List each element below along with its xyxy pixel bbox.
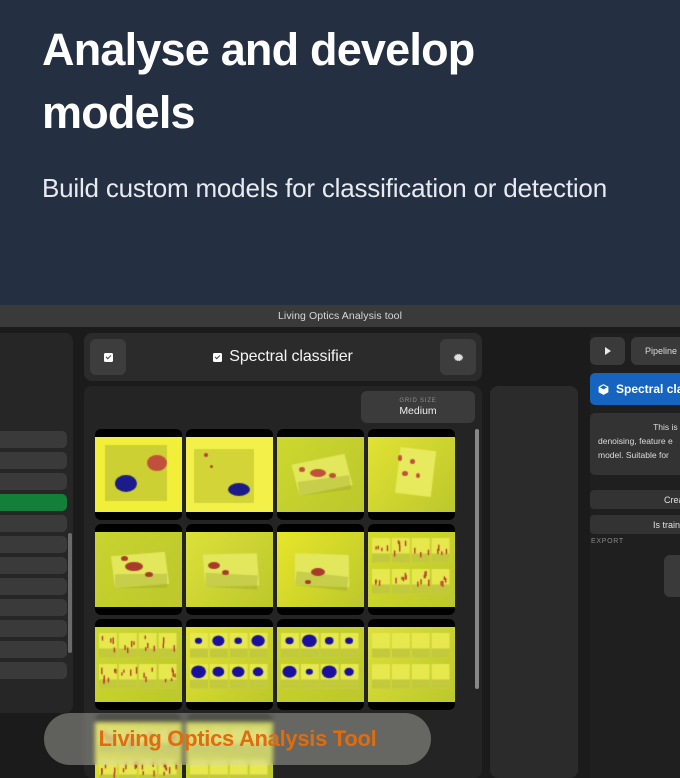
thumbnail-item[interactable] (186, 619, 273, 710)
overlay-pill: Living Optics Analysis Tool (44, 713, 431, 765)
thumbnail-item[interactable] (95, 524, 182, 615)
grid-size-value: Medium (399, 405, 436, 417)
field-created-at-label: Created at (664, 495, 680, 505)
list-item[interactable] (0, 431, 67, 448)
right-panel-tabs: Pipeline (590, 337, 680, 365)
center-header-title-group: Spectral classifier (84, 333, 482, 381)
thumbnail-item[interactable] (186, 524, 273, 615)
tab-pipeline-label: Pipeline (645, 346, 677, 356)
thumbnail-image (95, 532, 182, 607)
list-item[interactable]: . (0, 473, 67, 490)
thumbnail-item[interactable] (277, 619, 364, 710)
sidebar-scrollbar[interactable] (68, 533, 72, 653)
list-item[interactable] (0, 557, 67, 574)
center-column: Spectral classifier GRID SIZE Medium (84, 333, 482, 778)
list-item[interactable] (0, 515, 67, 532)
thumbnail-canvas (95, 627, 182, 702)
window-titlebar: Living Optics Analysis tool (0, 305, 680, 327)
checkbox-icon (213, 353, 222, 362)
thumbnail-image (277, 532, 364, 607)
app-window: Living Optics Analysis tool ts By object… (0, 305, 680, 778)
model-description-line-0: This is a classific (598, 420, 680, 434)
list-item[interactable]: e rate (0, 599, 67, 616)
list-item[interactable] (0, 578, 67, 595)
thumbnail-canvas (368, 627, 455, 702)
list-item[interactable]: e rate (0, 641, 67, 658)
list-item[interactable]: e (0, 536, 67, 553)
thumbnail-canvas (186, 627, 273, 702)
hero-banner: Analyse and develop models Build custom … (0, 0, 680, 305)
thumbnail-image (368, 627, 455, 702)
field-created-at[interactable]: Created at (590, 490, 680, 509)
page-title: Analyse and develop models (42, 18, 602, 144)
thumbnail-item[interactable] (95, 429, 182, 520)
page-subtitle: Build custom models for classification o… (42, 163, 642, 214)
training-prediction-panel: Training prediction background104103106 (490, 386, 578, 778)
thumbnail-image (186, 437, 273, 512)
thumbnail-canvas (368, 437, 455, 512)
model-description: This is a classific denoising, feature e… (590, 413, 680, 475)
thumbnail-image (368, 532, 455, 607)
app-body: ts By object e . e e ra (0, 327, 680, 778)
settings-button[interactable] (440, 339, 476, 375)
cube-icon (597, 383, 610, 396)
list-item[interactable]: e (0, 452, 67, 469)
overlay-pill-label: Living Optics Analysis Tool (99, 726, 377, 752)
thumbnail-image (277, 627, 364, 702)
field-is-trained-model[interactable]: Is trained model (590, 515, 680, 534)
list-item[interactable]: rate (0, 662, 67, 679)
thumbnail-item[interactable] (95, 619, 182, 710)
field-is-trained-model-label: Is trained model (653, 520, 680, 530)
thumbnail-canvas (95, 532, 182, 607)
thumbnail-item[interactable] (368, 524, 455, 615)
grid-scrollbar[interactable] (475, 429, 479, 689)
sidebar-row-list: e . e e rate rate e rate rate (0, 431, 67, 683)
thumbnail-canvas (277, 627, 364, 702)
export-section-label: EXPORT (591, 538, 624, 545)
play-icon (605, 347, 611, 355)
model-description-line-1: denoising, feature e (598, 434, 680, 448)
left-sidebar: ts By object e . e e ra (0, 333, 73, 713)
thumbnail-image (186, 627, 273, 702)
thumbnail-canvas (186, 532, 273, 607)
right-panel: Pipeline Spectral cla This is a classifi… (590, 333, 680, 778)
pipeline-selected-item[interactable]: Spectral cla (590, 373, 680, 405)
play-button[interactable] (590, 337, 625, 365)
thumbnail-item[interactable] (368, 429, 455, 520)
center-header-title: Spectral classifier (229, 348, 352, 366)
list-item-highlighted[interactable] (0, 494, 67, 511)
thumbnail-item[interactable] (368, 619, 455, 710)
pipeline-selected-label: Spectral cla (616, 382, 680, 396)
thumbnail-canvas (368, 532, 455, 607)
grid-size-control[interactable]: GRID SIZE Medium (361, 391, 475, 423)
thumbnail-image (95, 627, 182, 702)
tab-pipeline[interactable]: Pipeline (631, 337, 680, 365)
window-title: Living Optics Analysis tool (278, 310, 402, 322)
thumbnail-item[interactable] (186, 429, 273, 520)
thumbnail-canvas (277, 532, 364, 607)
thumbnail-image (368, 437, 455, 512)
thumbnail-item[interactable] (277, 524, 364, 615)
export-button[interactable]: F (664, 555, 680, 597)
grid-size-label: GRID SIZE (399, 398, 436, 404)
list-item[interactable]: rate (0, 620, 67, 637)
thumbnail-image (277, 437, 364, 512)
thumbnail-canvas (95, 437, 182, 512)
thumbnail-image (95, 437, 182, 512)
thumbnail-image (186, 532, 273, 607)
thumbnail-item[interactable] (277, 429, 364, 520)
model-description-line-2: model. Suitable for (598, 448, 680, 462)
gear-icon (452, 351, 465, 364)
thumbnail-canvas (277, 437, 364, 512)
thumbnail-canvas (186, 437, 273, 512)
center-header-bar: Spectral classifier (84, 333, 482, 381)
